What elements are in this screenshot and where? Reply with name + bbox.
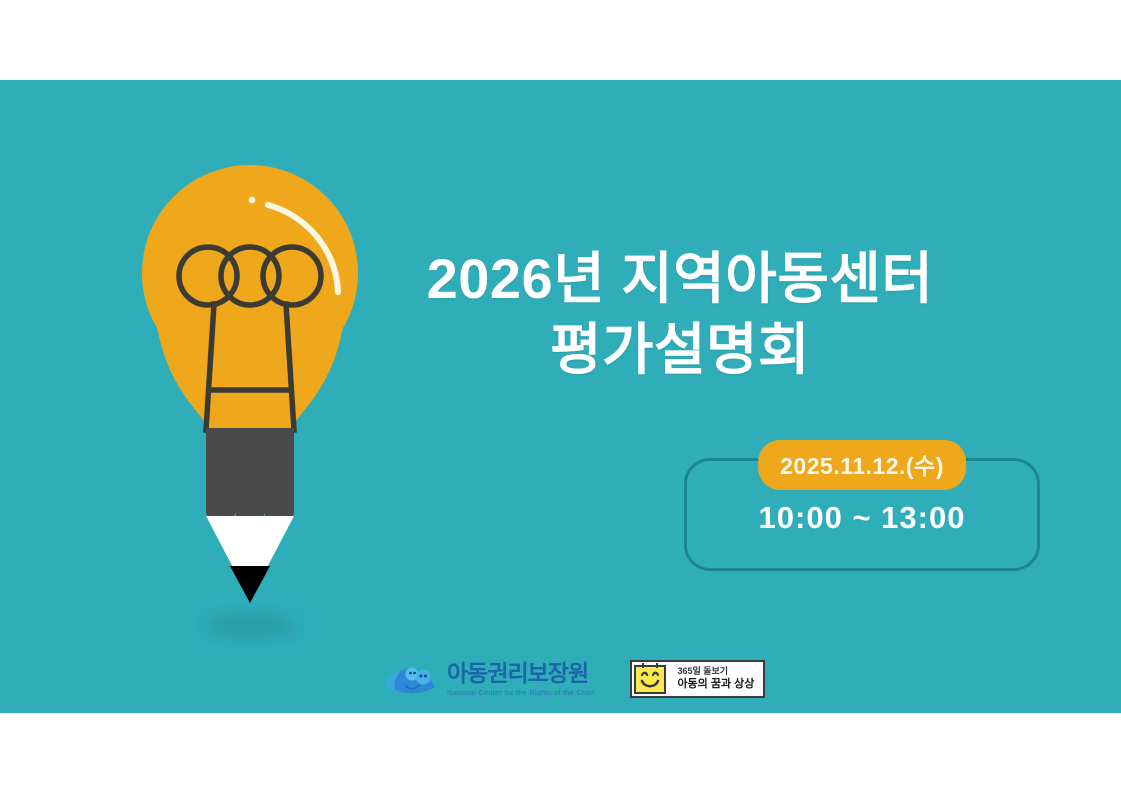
- smiley-note-icon: [632, 662, 670, 696]
- logo-care365-big: 아동의 꿈과 상상: [677, 678, 754, 691]
- logo-care365-text: 365일 돌보기 아동의 꿈과 상상: [670, 662, 763, 696]
- lightbulb-pencil-illustration: [140, 160, 360, 660]
- event-date-badge: 2025.11.12.(수): [758, 440, 966, 490]
- logo-ncrc-english: National Center for the Rights of the Ch…: [447, 688, 594, 697]
- shadow-ellipse: [202, 617, 298, 635]
- logo-ncrc-text: 아동권리보장원 National Center for the Rights o…: [447, 662, 594, 697]
- logo-ncrc-korean: 아동권리보장원: [447, 662, 594, 685]
- title-line-1: 2026년 지역아동센터: [370, 243, 990, 314]
- event-time-text: 10:00 ~ 13:00: [684, 500, 1040, 536]
- title-line-2: 평가설명회: [370, 314, 990, 385]
- whale-children-mark-icon: [385, 657, 441, 702]
- pencil-ferrule: [206, 428, 294, 527]
- page-title: 2026년 지역아동센터 평가설명회: [370, 243, 990, 385]
- logo-row: 아동권리보장원 National Center for the Rights o…: [385, 650, 765, 708]
- logo-care365: 365일 돌보기 아동의 꿈과 상상: [630, 660, 765, 698]
- pencil-tip: [230, 566, 270, 603]
- poster-canvas: 2026년 지역아동센터 평가설명회 2025.11.12.(수) 10:00 …: [0, 0, 1121, 793]
- logo-care365-small: 365일 돌보기: [677, 667, 754, 677]
- bulb-highlight-dot: [249, 197, 256, 204]
- logo-ncrc: 아동권리보장원 National Center for the Rights o…: [385, 657, 594, 702]
